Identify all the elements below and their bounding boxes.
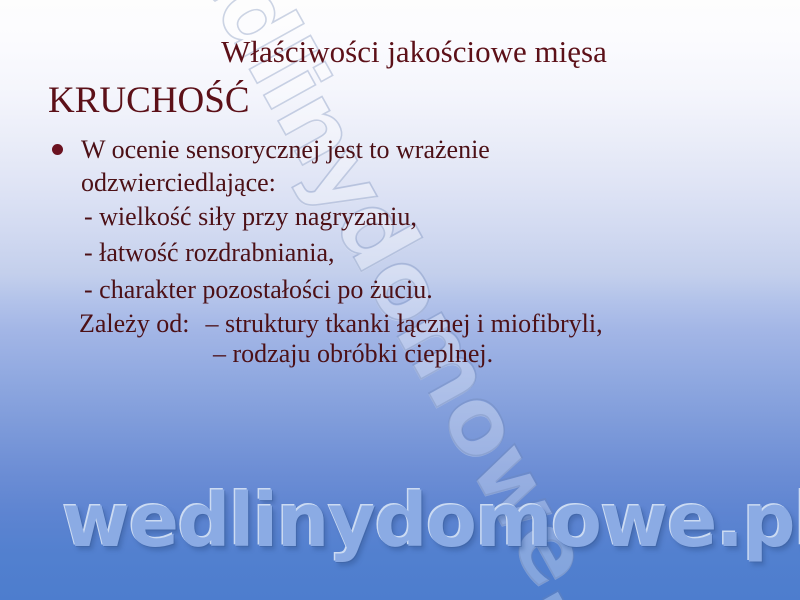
bullet-dot-icon [52, 144, 63, 155]
depends-row: Zależy od:– struktury tkanki łącznej i m… [79, 311, 603, 337]
slide-content: Właściwości jakościowe mięsa KRUCHOŚĆ W … [0, 0, 800, 600]
slide-heading: KRUCHOŚĆ [48, 82, 250, 119]
slide-title: Właściwości jakościowe mięsa [0, 36, 800, 67]
bullet-list-item: W ocenie sensorycznej jest to wrażenie o… [52, 133, 752, 200]
sub-item-1: - wielkość siły przy nagryzaniu, [84, 204, 417, 230]
depends-item-2: – rodzaju obróbki cieplnej. [213, 341, 493, 367]
presentation-slide: wedlinydomowe.pl Właściwości jakościowe … [0, 0, 800, 600]
sub-item-3: - charakter pozostałości po żuciu. [84, 277, 433, 303]
depends-item-1: – struktury tkanki łącznej i miofibryli, [205, 309, 602, 338]
sub-item-2: - łatwość rozdrabniania, [84, 240, 335, 266]
bullet-item-label: W ocenie sensorycznej jest to wrażenie o… [81, 133, 551, 200]
depends-label: Zależy od: [79, 309, 189, 338]
